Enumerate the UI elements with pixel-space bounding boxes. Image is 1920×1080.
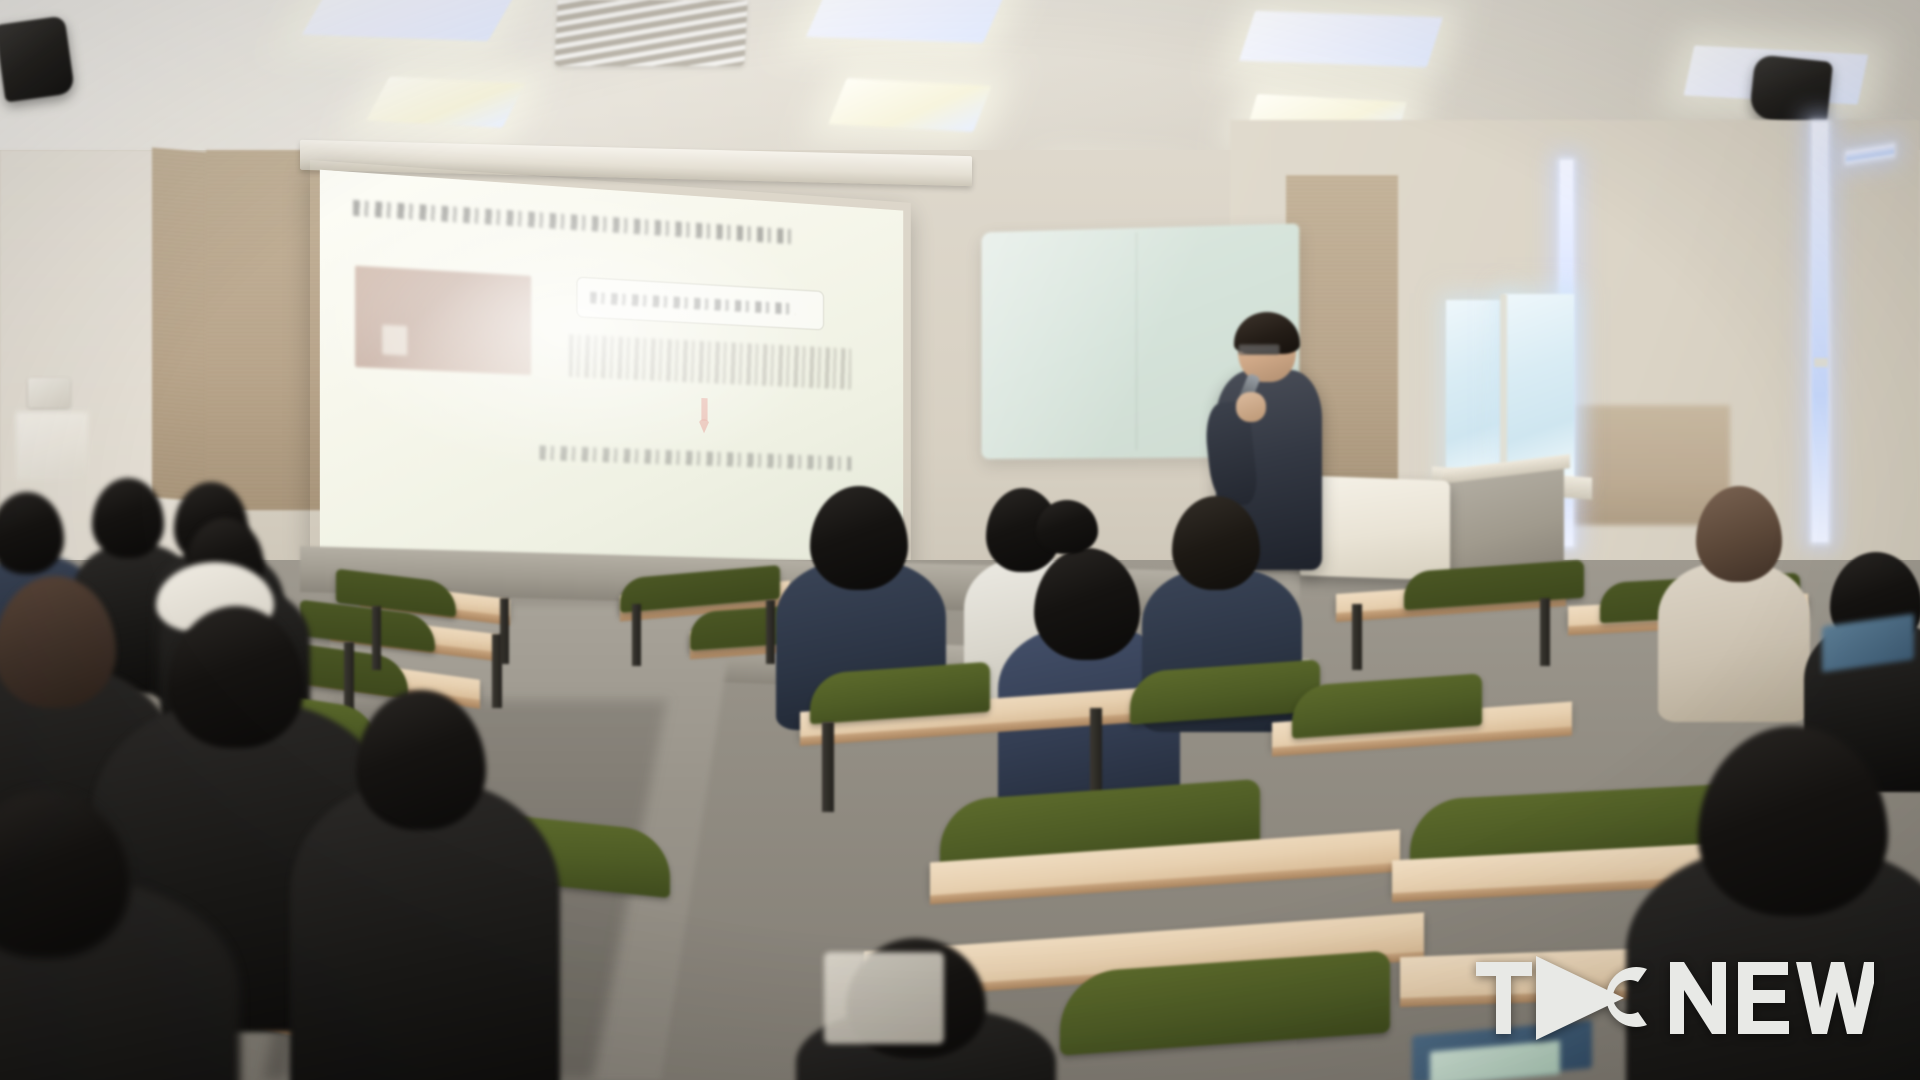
window-pane-right: [1504, 294, 1574, 482]
slide-body-text: [569, 334, 851, 389]
presenter-hand: [1236, 392, 1266, 422]
desk-leg: [492, 634, 502, 708]
wall-notice-paper: [16, 412, 88, 480]
desk-leg: [822, 722, 834, 812]
slide-image-thumbnail: [355, 266, 531, 375]
tbc-news-logo: [1474, 954, 1874, 1040]
desk-leg: [372, 606, 381, 670]
window-mullion: [1814, 358, 1828, 367]
window-pane-left: [1446, 300, 1508, 480]
whiteboard-seam: [1136, 232, 1137, 450]
slide-footer-text: [540, 445, 852, 470]
desk-leg: [1540, 598, 1550, 666]
wall-panel-left-a: [152, 147, 214, 502]
broadcast-frame: [0, 0, 1920, 1080]
ceiling-light-3: [806, 0, 1006, 43]
slide-title-text: [353, 200, 794, 244]
slide-down-arrow-icon: [698, 398, 711, 435]
ceiling-light-2: [366, 76, 525, 127]
ceiling-light-5: [1239, 11, 1443, 68]
slide-callout-box: [576, 277, 823, 331]
slide-callout-text: [590, 292, 795, 315]
air-vent-icon: [554, 0, 747, 66]
projection-screen-surface: [320, 170, 903, 563]
window-slit-2: [1812, 122, 1828, 542]
desk-leg: [766, 600, 775, 664]
desk-leg: [1352, 604, 1362, 670]
desk-leg: [1090, 708, 1102, 800]
logo-svg: [1474, 954, 1874, 1040]
glasses-icon: [1238, 344, 1280, 355]
ceiling-light-1: [302, 0, 521, 41]
ceiling-light-4: [828, 78, 991, 132]
ceiling-speaker-left-icon: [0, 16, 75, 103]
ceiling-speaker-right-icon: [1749, 54, 1833, 126]
bag-item: [824, 952, 944, 1044]
wall-switch-plate[interactable]: [28, 378, 70, 408]
window-frame-divider: [1500, 294, 1507, 484]
logo-mark-notch: [1555, 988, 1583, 1020]
desk-leg: [632, 604, 641, 666]
